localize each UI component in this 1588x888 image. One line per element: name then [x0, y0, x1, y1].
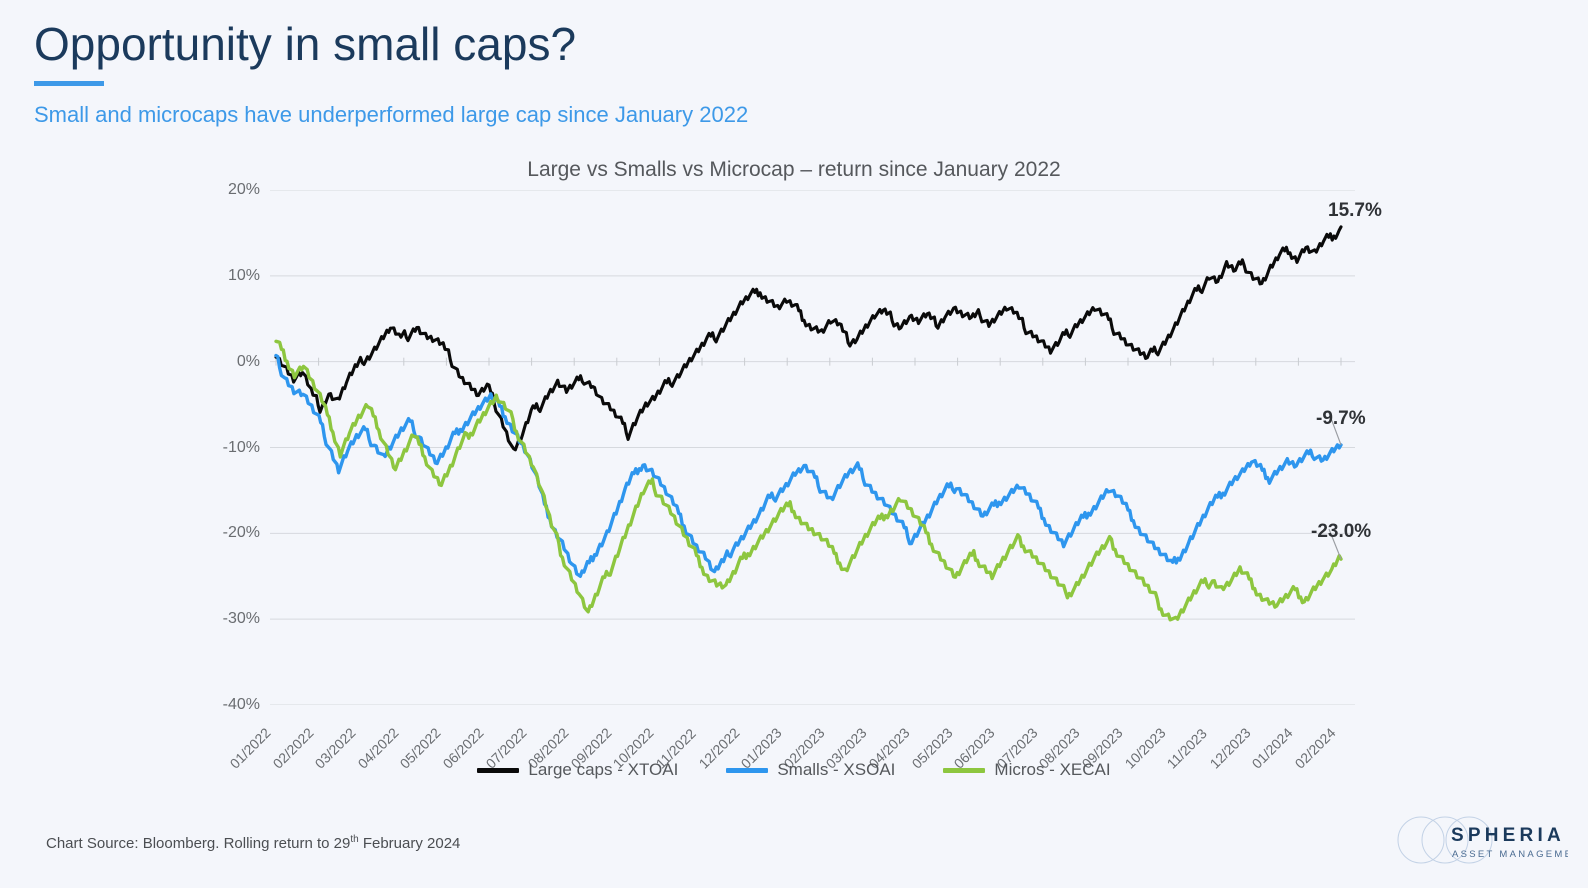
legend-label-large: Large caps - XTOAI	[528, 760, 678, 780]
legend-label-micros: Micros - XECAI	[994, 760, 1110, 780]
y-axis: 20%10%0%-10%-20%-30%-40%	[196, 190, 260, 705]
y-tick-label: 10%	[208, 267, 260, 285]
chart-title: Large vs Smalls vs Microcap – return sin…	[0, 158, 1588, 182]
legend-item-micros[interactable]: Micros - XECAI	[943, 760, 1110, 780]
source-text-ordinal: th	[350, 834, 358, 845]
legend-label-smalls: Smalls - XSOAI	[777, 760, 895, 780]
y-tick-label: -30%	[208, 610, 260, 628]
y-tick-label: 0%	[208, 353, 260, 371]
end-label-micros: -23.0%	[1311, 521, 1371, 543]
plot-area	[270, 190, 1355, 705]
title-underline-accent	[34, 81, 104, 86]
series-line-micros	[276, 341, 1341, 620]
series-line-smalls	[276, 356, 1341, 577]
legend-item-smalls[interactable]: Smalls - XSOAI	[726, 760, 895, 780]
legend-swatch-smalls	[726, 768, 768, 773]
page-title: Opportunity in small caps?	[34, 18, 1234, 71]
chart-source-note: Chart Source: Bloomberg. Rolling return …	[46, 834, 460, 852]
y-tick-label: 20%	[208, 181, 260, 199]
slide-header: Opportunity in small caps? Small and mic…	[34, 18, 1234, 128]
chart-legend: Large caps - XTOAISmalls - XSOAIMicros -…	[0, 760, 1588, 780]
series-line-large	[276, 227, 1341, 450]
legend-swatch-micros	[943, 768, 985, 773]
y-tick-label: -40%	[208, 696, 260, 714]
logo-tagline: ASSET MANAGEMENT	[1452, 849, 1568, 860]
source-text-prefix: Chart Source: Bloomberg. Rolling return …	[46, 835, 350, 852]
y-tick-label: -10%	[208, 439, 260, 457]
source-text-suffix: February 2024	[359, 835, 461, 852]
logo-wordmark: SPHERIA	[1451, 825, 1565, 846]
line-chart-svg	[270, 190, 1355, 705]
legend-item-large[interactable]: Large caps - XTOAI	[477, 760, 678, 780]
chart-region: Large vs Smalls vs Microcap – return sin…	[0, 150, 1588, 800]
spheria-logo: SPHERIA ASSET MANAGEMENT	[1383, 806, 1568, 876]
end-label-large-caps: 15.7%	[1328, 200, 1382, 222]
legend-swatch-large	[477, 768, 519, 773]
page-subtitle: Small and microcaps have underperformed …	[34, 102, 1234, 128]
y-tick-label: -20%	[208, 524, 260, 542]
end-label-smalls: -9.7%	[1316, 408, 1366, 430]
